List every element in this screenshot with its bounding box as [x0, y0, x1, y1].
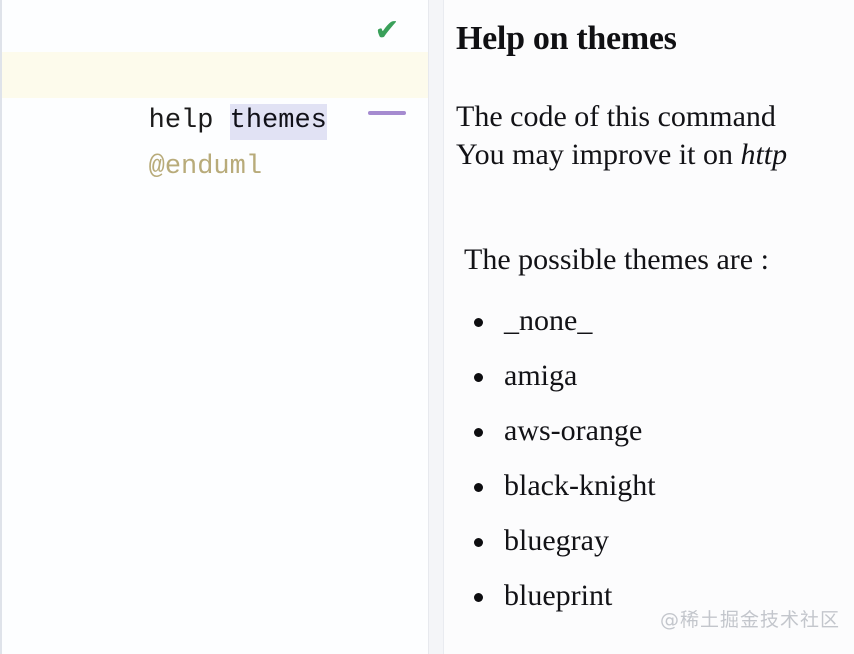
- code-line-enduml[interactable]: @enduml: [2, 98, 428, 144]
- check-icon: ✔: [372, 16, 402, 46]
- page-title: Help on themes: [456, 20, 854, 58]
- help-output-pane: Help on themes The code of this command …: [444, 0, 854, 654]
- themes-list-intro: The possible themes are :: [464, 243, 854, 277]
- list-item: blueprint: [456, 568, 854, 623]
- code-editor-pane[interactable]: @startuml help themes @enduml ✔: [0, 0, 428, 654]
- code-token-enduml: @enduml: [149, 152, 262, 182]
- themes-list: _none_ amiga aws-orange black-knight blu…: [456, 293, 854, 623]
- list-item: aws-orange: [456, 403, 854, 458]
- list-item: black-knight: [456, 458, 854, 513]
- dash-icon: [368, 111, 406, 115]
- list-item: amiga: [456, 348, 854, 403]
- help-paragraph-improve-text: You may improve it on: [456, 138, 740, 171]
- list-item: bluegray: [456, 513, 854, 568]
- help-link-url[interactable]: http: [740, 138, 787, 171]
- plantuml-help-screen: @startuml help themes @enduml ✔ Help on …: [0, 0, 854, 654]
- help-paragraph-improve: You may improve it on http: [456, 138, 854, 173]
- code-line-help-themes[interactable]: help themes: [2, 52, 428, 98]
- list-item: _none_: [456, 293, 854, 348]
- help-paragraph-code: The code of this command: [456, 100, 854, 135]
- pane-splitter[interactable]: [428, 0, 444, 654]
- code-editor-content[interactable]: @startuml help themes @enduml: [2, 0, 428, 614]
- code-line-startuml[interactable]: @startuml: [2, 6, 428, 52]
